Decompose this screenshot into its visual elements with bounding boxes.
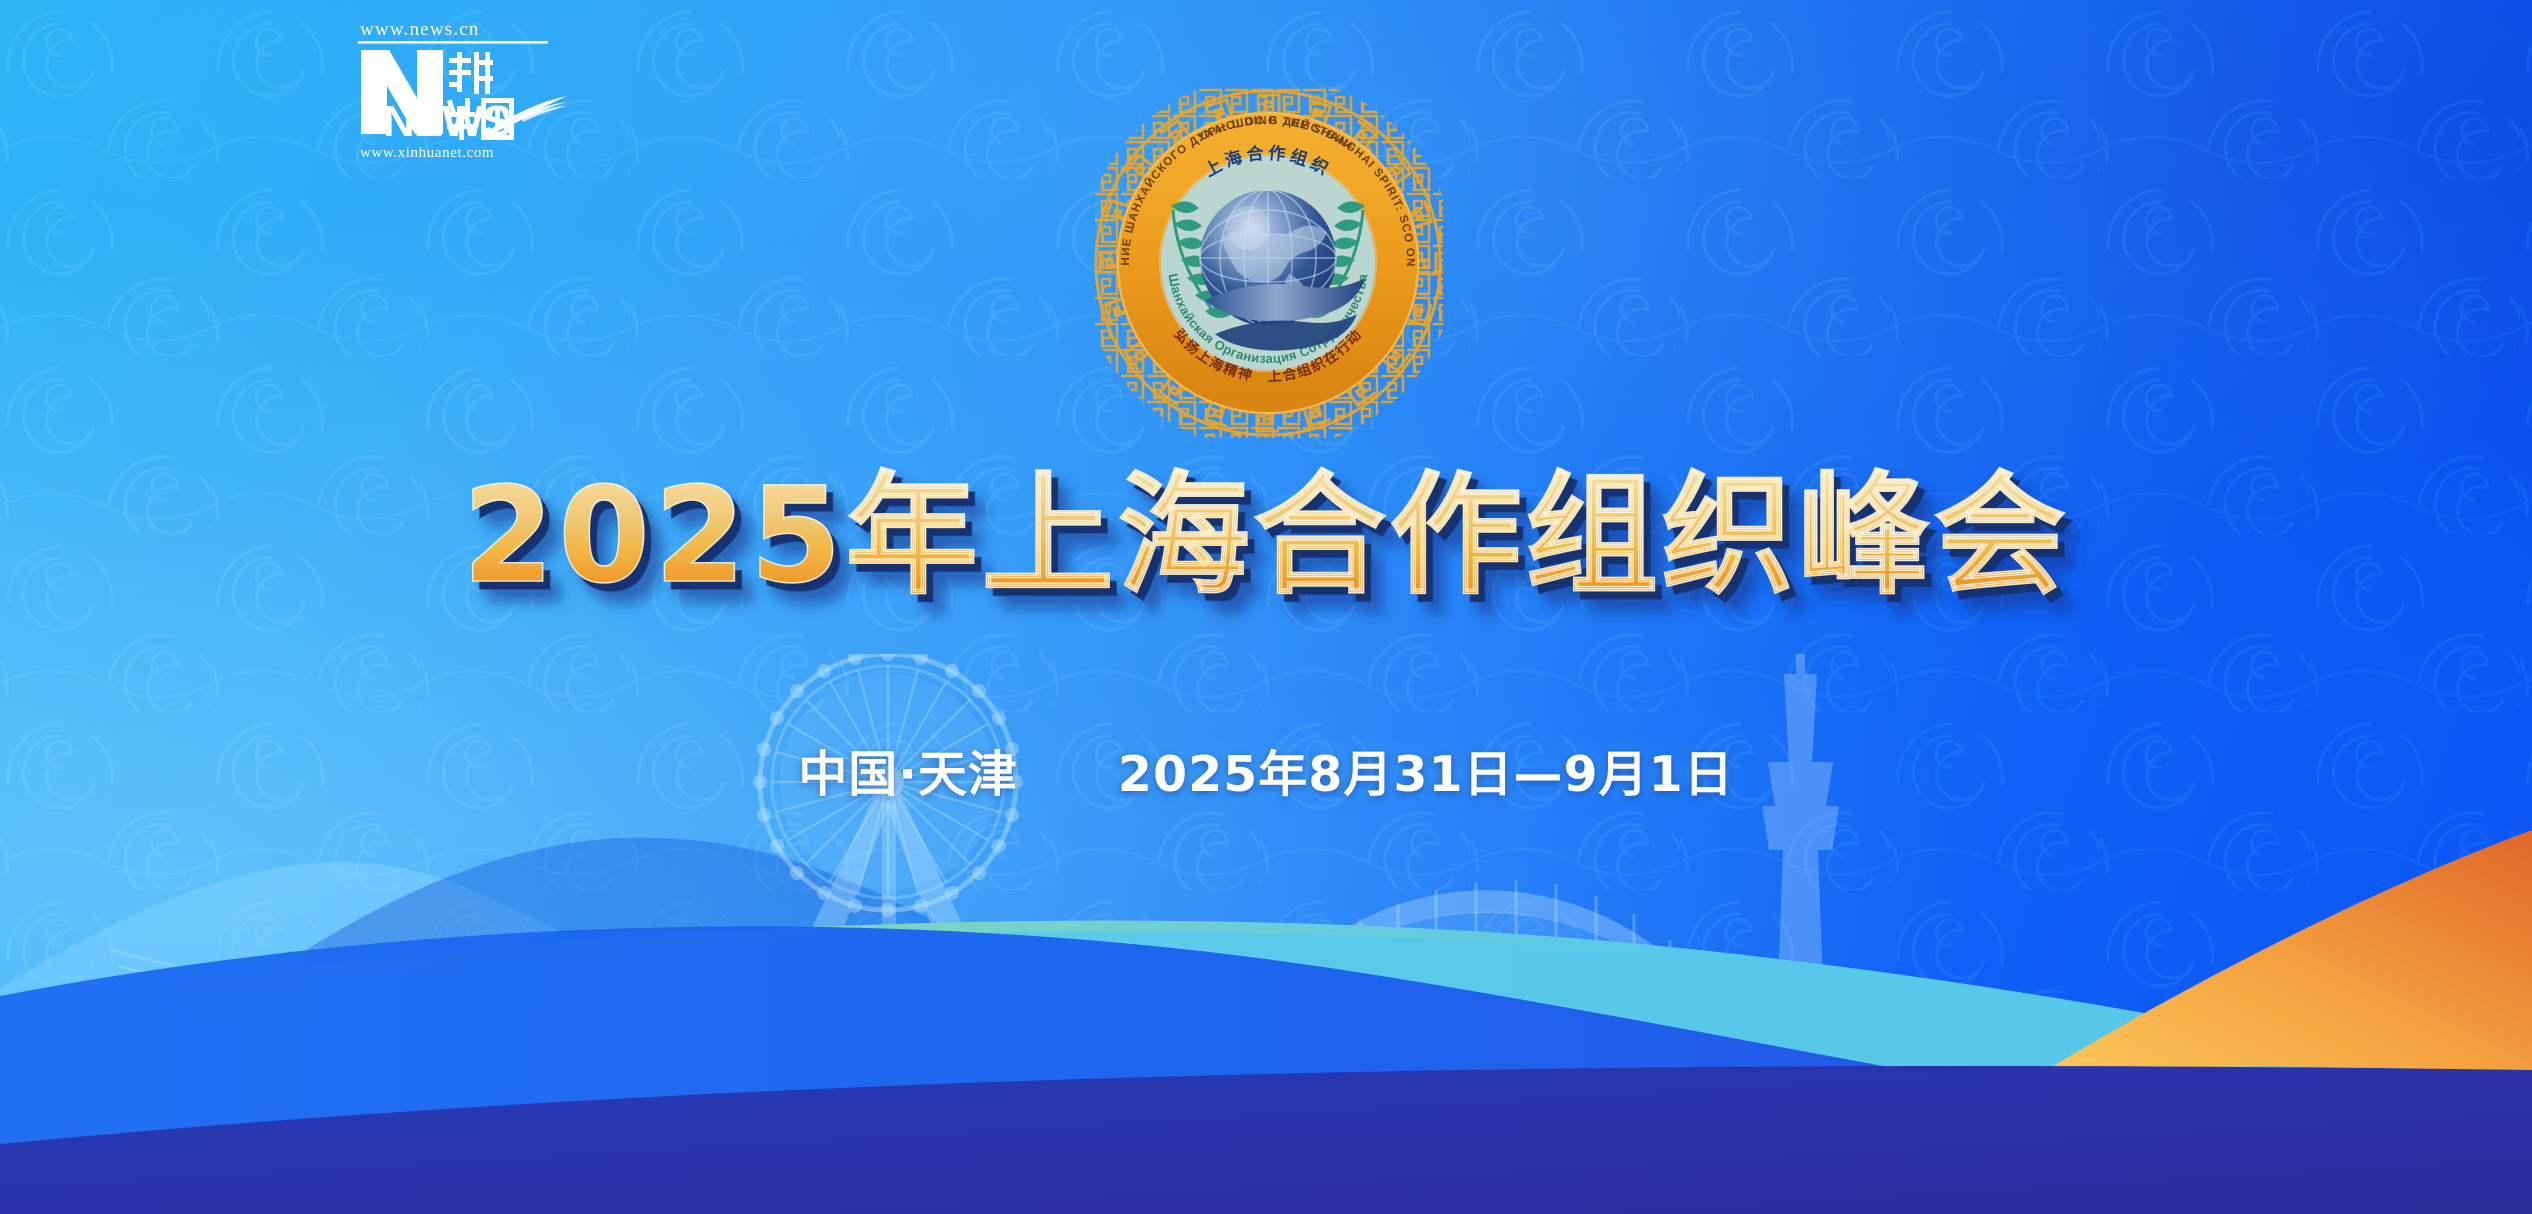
poster-canvas: www.news.cn (0, 0, 2532, 1214)
tianjin-eye-ferris-wheel (753, 654, 1023, 972)
yongle-arch-bridge (1220, 880, 1760, 1124)
ribbon-deep-base (0, 1066, 2532, 1214)
ribbon-blue (0, 926, 2110, 1160)
truss-bridge (1130, 1064, 2300, 1194)
event-title-highlight: 2025年上海合作组织峰会 (462, 459, 2069, 613)
event-location-and-dates: 中国·天津 2025年8月31日—9月1日 (0, 744, 2532, 806)
logo-bottom-url: www.xinhuanet.com (360, 145, 494, 161)
logo-wordmark-en: NEWS (383, 97, 511, 146)
event-title-block: 2025年上海合作组织峰会 2025年上海合作组织峰会 (0, 449, 2532, 629)
fan-rays (110, 950, 900, 1214)
wheel-bridge-deck (620, 972, 1180, 982)
mountain-ridge-mid (300, 838, 1460, 1214)
event-title: 2025年上海合作组织峰会 2025年上海合作组织峰会 (426, 449, 2106, 629)
mountain-ridge-right (1560, 981, 2300, 1214)
logo-top-url: www.news.cn (360, 19, 480, 40)
tianjin-skyline-silhouette (0, 654, 2532, 1214)
xinhuanet-logo[interactable]: www.news.cn (355, 14, 570, 162)
bottom-wave-ribbons (0, 744, 2532, 1214)
ribbon-orange (2040, 830, 2532, 1074)
tianjin-tv-tower (1756, 654, 1846, 1127)
mountain-ridge-left (0, 862, 860, 1214)
clock-tower-sculpture (1588, 1106, 1760, 1214)
sco-emblem: ПРОДВИЖЕНИЕ ШАНХАЙСКОГО ДУХА: ШОС В ДЕЙС… (1093, 88, 1443, 438)
logo-rule (358, 41, 548, 44)
ribbon-cyan (0, 921, 2532, 1214)
ribbon-green-accent (0, 921, 1700, 1024)
